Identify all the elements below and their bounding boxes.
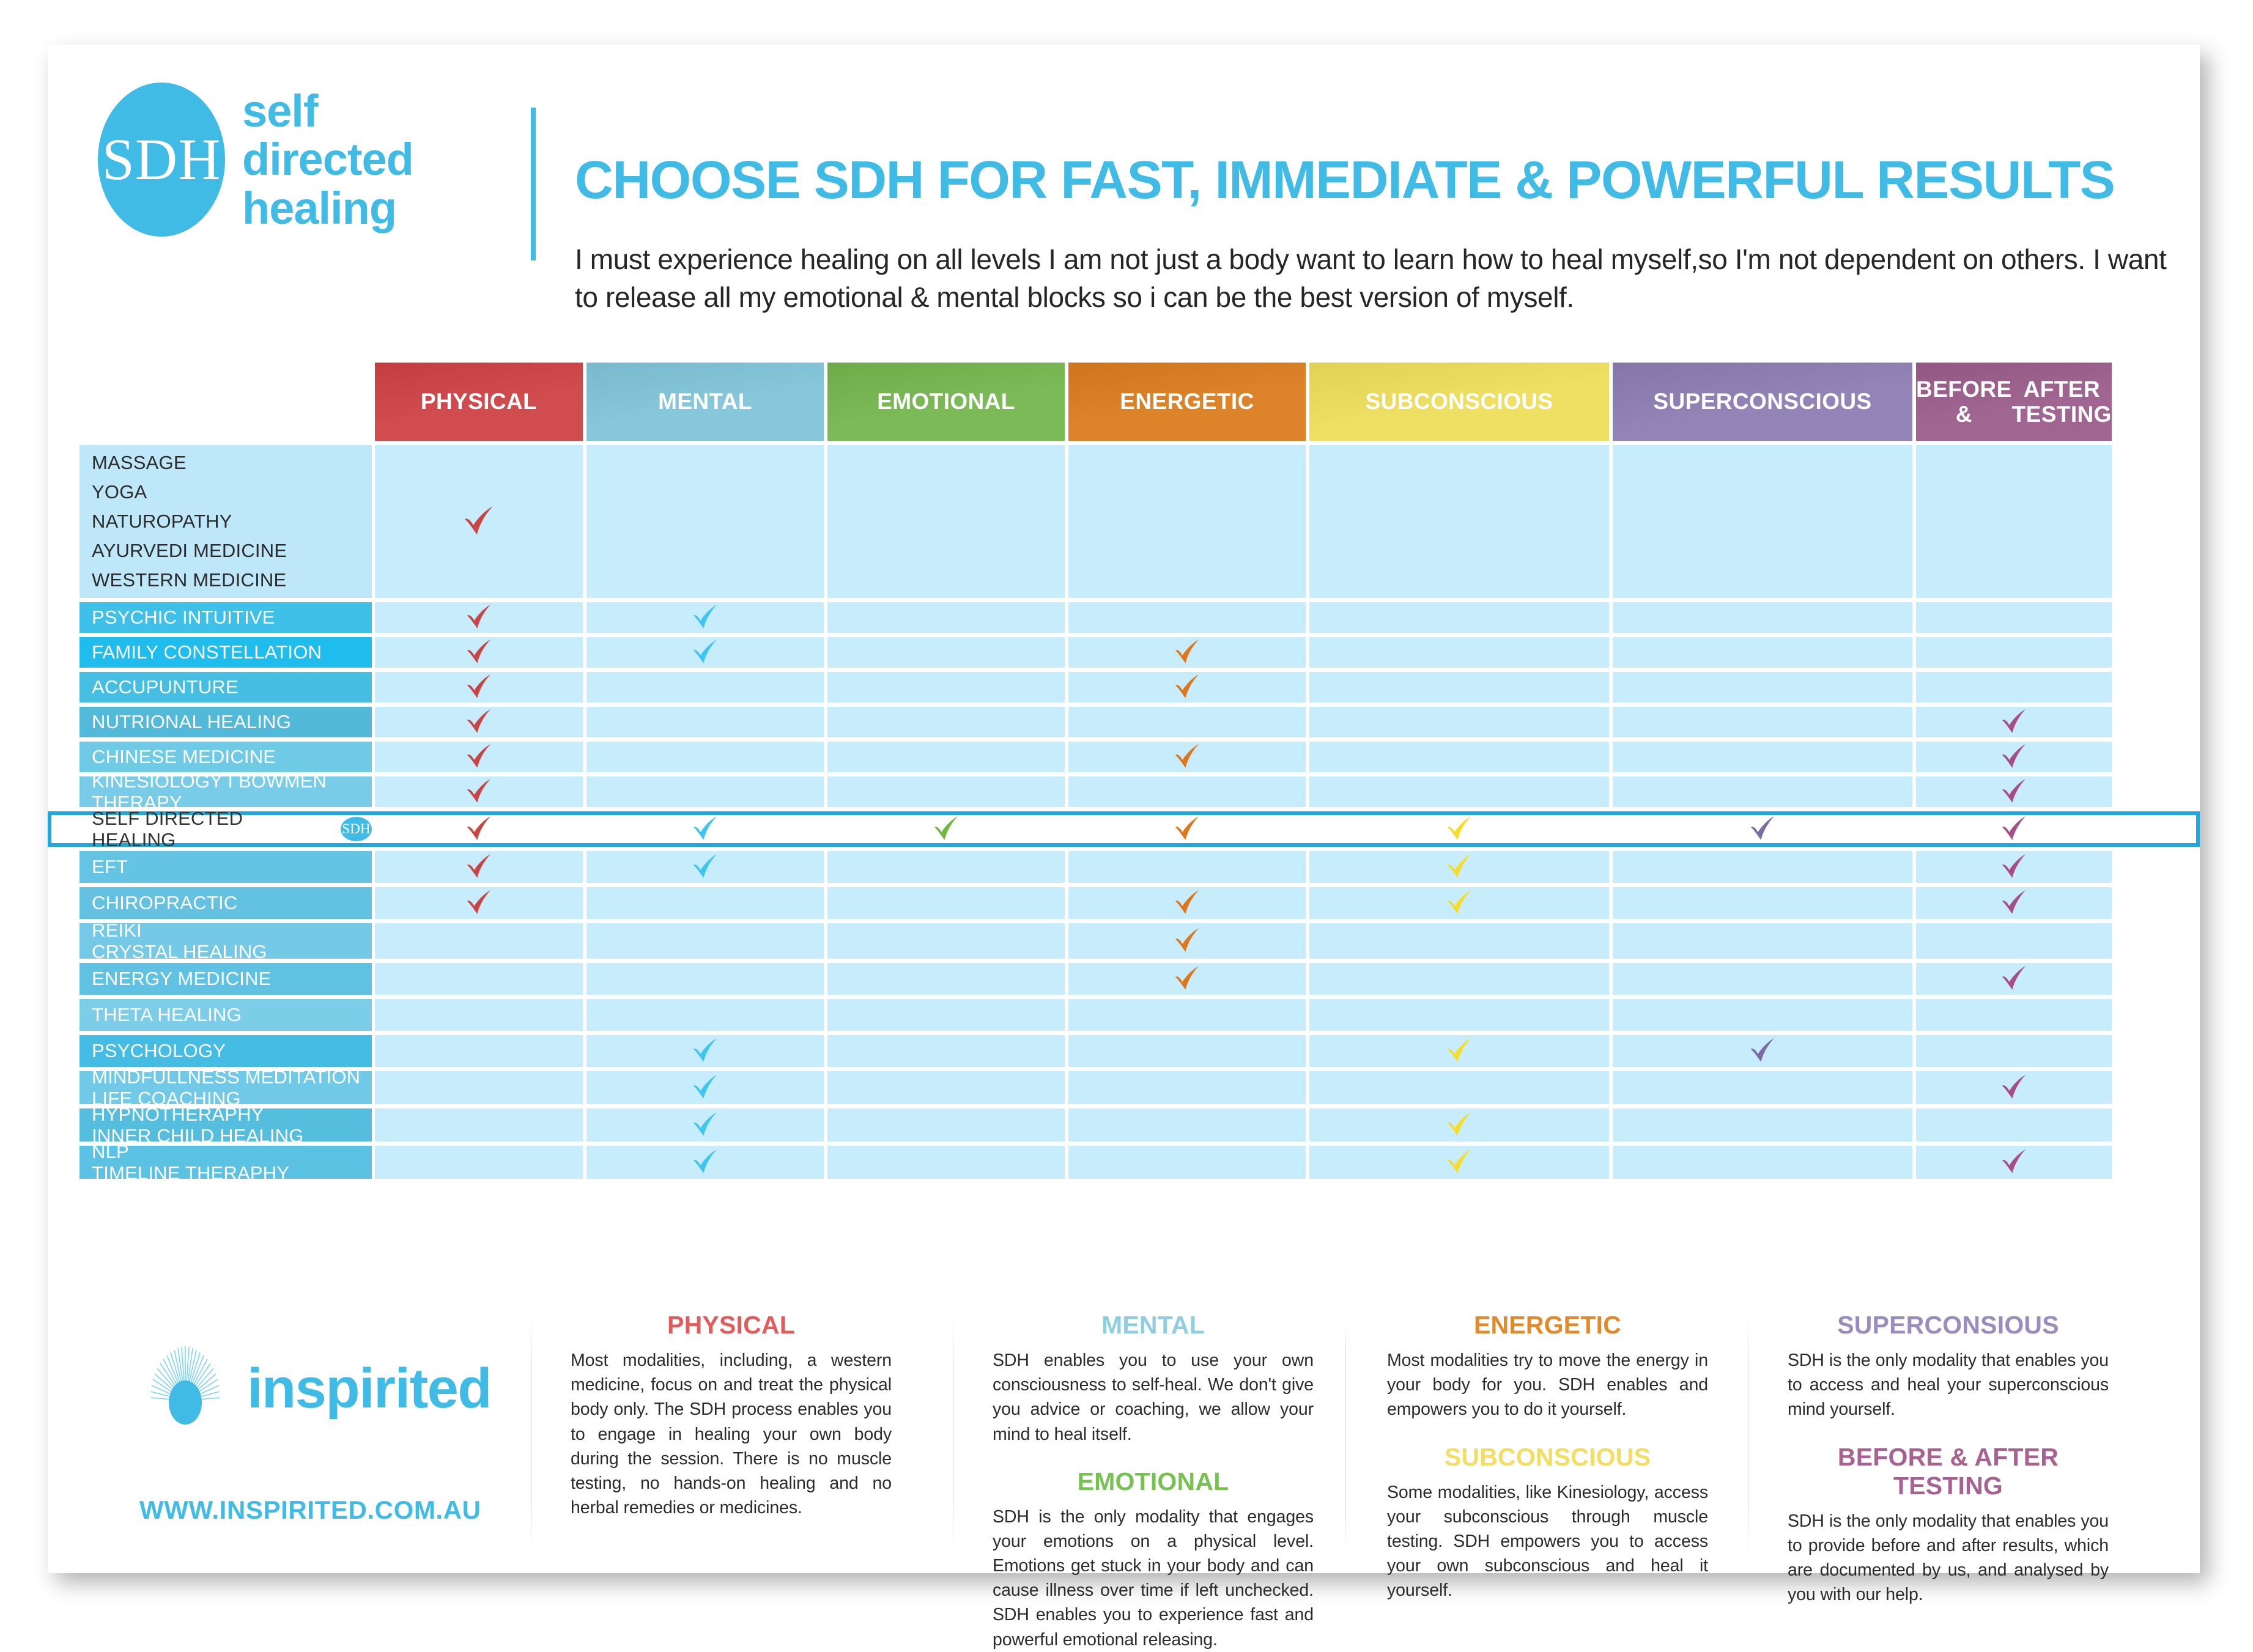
row-cells — [375, 776, 2112, 807]
footer-heading-before-after-testing: BEFORE & AFTER TESTING — [1788, 1443, 2109, 1500]
sdh-logo-oval-icon: SDH — [98, 83, 225, 237]
checkmark-icon — [686, 810, 724, 848]
checkmark-icon — [456, 499, 501, 544]
cell-accupunture-mental[interactable] — [586, 672, 824, 702]
footer-body-before-after-testing: SDH is the only modality that enables yo… — [1788, 1509, 2109, 1607]
cell-chinese-medicine-subconscious[interactable] — [1309, 742, 1609, 772]
column-header-label: PHYSICAL — [421, 389, 537, 414]
column-header-energetic: ENERGETIC — [1068, 363, 1306, 441]
cell-chinese-medicine-physical[interactable] — [375, 742, 583, 772]
footer-body-superconsious: SDH is the only modality that enables yo… — [1788, 1348, 2109, 1422]
row-label-theta-healing: THETA HEALING — [80, 999, 372, 1031]
row-label-reiki: REIKICRYSTAL HEALING — [80, 923, 372, 959]
checkmark-icon — [460, 773, 498, 811]
cell-chiropractic-subconscious[interactable] — [1309, 887, 1609, 919]
row-label-text: TIMELINE THERAPHY — [92, 1162, 372, 1184]
cell-reiki-emotional[interactable] — [827, 923, 1065, 959]
footer-column: MENTALSDH enables you to use your own co… — [993, 1311, 1314, 1652]
table-row[interactable]: EFT — [48, 851, 2200, 883]
cell-psychology-mental[interactable] — [586, 1035, 824, 1067]
cell-self-directed-healing-before-after-testing[interactable] — [1916, 815, 2112, 843]
row-label-eft: EFT — [80, 851, 372, 883]
cell-hypnotheraphy-mental[interactable] — [586, 1108, 824, 1141]
cell-energy-medicine-physical[interactable] — [375, 963, 583, 995]
cell-nlp-emotional[interactable] — [827, 1146, 1065, 1179]
column-header-mental: MENTAL — [586, 363, 824, 441]
sdh-logo: SDH self directed healing — [98, 83, 413, 237]
cell-psychology-energetic[interactable] — [1068, 1035, 1306, 1067]
cell-family-constellation-before-after-testing[interactable] — [1916, 637, 2112, 668]
row-cells — [375, 923, 2112, 959]
row-label-accupunture: ACCUPUNTURE — [80, 672, 372, 702]
row-label-text: SELF DIRECTED HEALING — [92, 808, 327, 851]
checkmark-icon — [927, 810, 965, 848]
cell-psychology-before-after-testing[interactable] — [1916, 1035, 2112, 1067]
checkmark-icon — [1440, 848, 1478, 886]
checkmark-icon — [1995, 1143, 2033, 1181]
cell-mindfullness-meditation-physical[interactable] — [375, 1071, 583, 1104]
row-cells — [375, 602, 2112, 633]
checkmark-icon — [1168, 810, 1206, 848]
checkmark-icon — [1744, 810, 1781, 848]
checkmark-icon — [1440, 1106, 1478, 1144]
checkmark-icon — [1995, 703, 2033, 741]
cell-nutrional-healing-physical[interactable] — [375, 707, 583, 737]
checkmark-icon — [460, 599, 498, 636]
row-cells — [375, 887, 2112, 919]
footer-heading-energetic: ENERGETIC — [1387, 1311, 1708, 1340]
row-label-chiropractic: CHIROPRACTIC — [80, 887, 372, 919]
cell-hypnotheraphy-energetic[interactable] — [1068, 1108, 1306, 1141]
checkmark-icon — [686, 633, 724, 671]
row-label-text: WESTERN MEDICINE — [92, 566, 372, 595]
cell-energy-medicine-before-after-testing[interactable] — [1916, 963, 2112, 995]
table-row[interactable]: MASSAGEYOGANATUROPATHYAYURVEDI MEDICINEW… — [48, 445, 2200, 598]
cell-mindfullness-meditation-mental[interactable] — [586, 1071, 824, 1104]
column-header-label: ENERGETIC — [1120, 389, 1254, 414]
cell-chinese-medicine-superconscious[interactable] — [1613, 742, 1912, 772]
checkmark-icon — [460, 884, 498, 922]
cell-chiropractic-physical[interactable] — [375, 887, 583, 919]
footer-column: ENERGETICMost modalities try to move the… — [1387, 1311, 1708, 1602]
column-header-label: SUPERCONSCIOUS — [1653, 389, 1871, 414]
footer-body-energetic: Most modalities try to move the energy i… — [1387, 1348, 1708, 1422]
row-label-family-constellation: FAMILY CONSTELLATION — [80, 637, 372, 668]
checkmark-icon — [1995, 738, 2033, 776]
row-label-massage: MASSAGEYOGANATUROPATHYAYURVEDI MEDICINEW… — [80, 445, 372, 598]
cell-self-directed-healing-subconscious[interactable] — [1309, 815, 1609, 843]
row-cells — [375, 1146, 2112, 1179]
page-subtitle: I must experience healing on all levels … — [575, 240, 2189, 316]
table-row[interactable]: REIKICRYSTAL HEALING — [48, 923, 2200, 959]
poster-header: SDH self directed healing CHOOSE SDH FOR… — [48, 45, 2200, 289]
checkmark-icon — [1440, 1143, 1478, 1181]
cell-family-constellation-physical[interactable] — [375, 637, 583, 668]
sdh-logo-wordmark: self directed healing — [242, 87, 413, 232]
cell-family-constellation-energetic[interactable] — [1068, 637, 1306, 668]
cell-chiropractic-superconscious[interactable] — [1613, 887, 1912, 919]
footer-body-physical: Most modalities, including, a western me… — [571, 1348, 892, 1520]
column-header-before-after-testing: BEFORE &AFTER TESTING — [1916, 363, 2112, 441]
checkmark-icon — [1168, 922, 1206, 960]
cell-chinese-medicine-energetic[interactable] — [1068, 742, 1306, 772]
cell-accupunture-before-after-testing[interactable] — [1916, 672, 2112, 702]
table-row[interactable]: NLPTIMELINE THERAPHY — [48, 1146, 2200, 1179]
cell-nlp-subconscious[interactable] — [1309, 1146, 1609, 1179]
sdh-logo-line-3: healing — [242, 184, 413, 232]
checkmark-icon — [460, 738, 498, 776]
footer-body-mental: SDH enables you to use your own consciou… — [993, 1348, 1314, 1447]
cell-massage-emotional[interactable] — [827, 445, 1065, 598]
cell-nutrional-healing-emotional[interactable] — [827, 707, 1065, 737]
row-cells — [375, 1108, 2112, 1141]
inspirited-logo: inspirited — [139, 1343, 491, 1434]
row-label-text: CHIROPRACTIC — [92, 892, 372, 913]
column-header-label: AFTER TESTING — [2012, 377, 2112, 427]
inspirited-wordmark: inspirited — [247, 1360, 491, 1417]
checkmark-icon — [1995, 773, 2033, 811]
cell-chinese-medicine-mental[interactable] — [586, 742, 824, 772]
table-body: MASSAGEYOGANATUROPATHYAYURVEDI MEDICINEW… — [48, 445, 2200, 1183]
poster-footer: inspirited WWW.INSPIRITED.COM.AU PHYSICA… — [48, 1294, 2200, 1573]
checkmark-icon — [686, 1106, 724, 1144]
cell-psychology-physical[interactable] — [375, 1035, 583, 1067]
page-title: CHOOSE SDH FOR FAST, IMMEDIATE & POWERFU… — [575, 153, 2177, 207]
row-label-text: MINDFULLNESS MEDITATION — [92, 1066, 372, 1088]
cell-hypnotheraphy-superconscious[interactable] — [1613, 1108, 1912, 1141]
cell-reiki-subconscious[interactable] — [1309, 923, 1609, 959]
cell-energy-medicine-superconscious[interactable] — [1613, 963, 1912, 995]
cell-eft-physical[interactable] — [375, 851, 583, 883]
row-label-self-directed-healing: SELF DIRECTED HEALINGSDH — [80, 815, 372, 843]
row-label-text: CHINESE MEDICINE — [92, 746, 372, 767]
footer-divider — [953, 1318, 953, 1551]
row-label-text: PSYCHOLOGY — [92, 1040, 372, 1061]
cell-massage-mental[interactable] — [586, 445, 824, 598]
column-header-label: SUBCONSCIOUS — [1366, 389, 1553, 414]
cell-nutrional-healing-mental[interactable] — [586, 707, 824, 737]
row-cells — [375, 672, 2112, 702]
website-url[interactable]: WWW.INSPIRITED.COM.AU — [139, 1495, 481, 1525]
cell-chinese-medicine-emotional[interactable] — [827, 742, 1065, 772]
checkmark-icon — [686, 1032, 724, 1070]
row-label-nlp: NLPTIMELINE THERAPHY — [80, 1146, 372, 1179]
cell-kinesiology-i-bowmen-therapy-subconscious[interactable] — [1309, 776, 1609, 807]
cell-mindfullness-meditation-energetic[interactable] — [1068, 1071, 1306, 1104]
footer-column: PHYSICALMost modalities, including, a we… — [571, 1311, 892, 1520]
footer-spacer — [1788, 1422, 2109, 1443]
cell-kinesiology-i-bowmen-therapy-emotional[interactable] — [827, 776, 1065, 807]
footer-divider — [1748, 1318, 1748, 1551]
cell-psychic-intuitive-before-after-testing[interactable] — [1916, 602, 2112, 633]
sdh-badge-icon: SDH — [341, 817, 372, 841]
checkmark-icon — [1995, 884, 2033, 922]
cell-theta-healing-superconscious[interactable] — [1613, 999, 1912, 1031]
row-label-text: NUTRIONAL HEALING — [92, 711, 372, 732]
cell-hypnotheraphy-physical[interactable] — [375, 1108, 583, 1141]
cell-kinesiology-i-bowmen-therapy-superconscious[interactable] — [1613, 776, 1912, 807]
cell-theta-healing-subconscious[interactable] — [1309, 999, 1609, 1031]
checkmark-icon — [460, 810, 498, 848]
cell-nlp-energetic[interactable] — [1068, 1146, 1306, 1179]
cell-mindfullness-meditation-before-after-testing[interactable] — [1916, 1071, 2112, 1104]
row-cells — [375, 1071, 2112, 1104]
cell-energy-medicine-emotional[interactable] — [827, 963, 1065, 995]
cell-chiropractic-mental[interactable] — [586, 887, 824, 919]
cell-self-directed-healing-emotional[interactable] — [827, 815, 1065, 843]
cell-nutrional-healing-before-after-testing[interactable] — [1916, 707, 2112, 737]
cell-reiki-before-after-testing[interactable] — [1916, 923, 2112, 959]
cell-reiki-energetic[interactable] — [1068, 923, 1306, 959]
footer-heading-physical: PHYSICAL — [571, 1311, 892, 1340]
row-label-psychic-intuitive: PSYCHIC INTUITIVE — [80, 602, 372, 633]
cell-accupunture-energetic[interactable] — [1068, 672, 1306, 702]
checkmark-icon — [460, 848, 498, 886]
column-header-subconscious: SUBCONSCIOUS — [1309, 363, 1609, 441]
table-row[interactable]: PSYCHIC INTUITIVE — [48, 602, 2200, 633]
table-row[interactable]: KINESIOLOGY I BOWMEN THERAPY — [48, 776, 2200, 807]
footer-heading-mental: MENTAL — [993, 1311, 1314, 1340]
table-row[interactable]: MINDFULLNESS MEDITATIONLIFE COACHING — [48, 1071, 2200, 1104]
cell-hypnotheraphy-subconscious[interactable] — [1309, 1108, 1609, 1141]
row-cells — [375, 637, 2112, 668]
table-row[interactable]: FAMILY CONSTELLATION — [48, 637, 2200, 668]
row-label-text: CRYSTAL HEALING — [92, 941, 372, 962]
cell-kinesiology-i-bowmen-therapy-before-after-testing[interactable] — [1916, 776, 2112, 807]
header-vertical-divider — [531, 108, 536, 260]
checkmark-icon — [686, 1069, 724, 1107]
row-label-text: AYURVEDI MEDICINE — [92, 536, 372, 566]
checkmark-icon — [1168, 884, 1206, 922]
table-row[interactable]: SELF DIRECTED HEALINGSDH — [48, 811, 2200, 847]
cell-nutrional-healing-superconscious[interactable] — [1613, 707, 1912, 737]
row-label-energy-medicine: ENERGY MEDICINE — [80, 963, 372, 995]
sunburst-icon — [139, 1343, 231, 1434]
cell-massage-subconscious[interactable] — [1309, 445, 1609, 598]
cell-eft-before-after-testing[interactable] — [1916, 851, 2112, 883]
cell-theta-healing-physical[interactable] — [375, 999, 583, 1031]
cell-accupunture-superconscious[interactable] — [1613, 672, 1912, 702]
cell-self-directed-healing-physical[interactable] — [375, 815, 583, 843]
cell-psychology-superconscious[interactable] — [1613, 1035, 1912, 1067]
row-cells — [375, 742, 2112, 772]
cell-psychology-subconscious[interactable] — [1309, 1035, 1609, 1067]
cell-nlp-physical[interactable] — [375, 1146, 583, 1179]
cell-mindfullness-meditation-emotional[interactable] — [827, 1071, 1065, 1104]
row-label-nutrional-healing: NUTRIONAL HEALING — [80, 707, 372, 737]
sdh-logo-initials: SDH — [102, 130, 221, 189]
cell-psychic-intuitive-subconscious[interactable] — [1309, 602, 1609, 633]
column-header-physical: PHYSICAL — [375, 363, 583, 441]
column-header-label: EMOTIONAL — [877, 389, 1015, 414]
row-label-hypnotheraphy: HYPNOTHERAPHYINNER CHILD HEALING — [80, 1108, 372, 1141]
table-row[interactable]: NUTRIONAL HEALING — [48, 707, 2200, 737]
cell-kinesiology-i-bowmen-therapy-mental[interactable] — [586, 776, 824, 807]
row-cells — [375, 707, 2112, 737]
cell-reiki-superconscious[interactable] — [1613, 923, 1912, 959]
row-label-text: YOGA — [92, 478, 372, 507]
checkmark-icon — [1440, 810, 1478, 848]
checkmark-icon — [1168, 633, 1206, 671]
checkmark-icon — [686, 1143, 724, 1181]
poster-card: SDH self directed healing CHOOSE SDH FOR… — [48, 45, 2200, 1573]
cell-theta-healing-emotional[interactable] — [827, 999, 1065, 1031]
cell-chiropractic-energetic[interactable] — [1068, 887, 1306, 919]
cell-massage-superconscious[interactable] — [1613, 445, 1912, 598]
row-label-text: PSYCHIC INTUITIVE — [92, 607, 372, 628]
cell-family-constellation-emotional[interactable] — [827, 637, 1065, 668]
checkmark-icon — [1995, 810, 2033, 848]
sdh-logo-line-2: directed — [242, 135, 413, 183]
column-header-label: BEFORE & — [1916, 377, 2012, 427]
cell-eft-superconscious[interactable] — [1613, 851, 1912, 883]
table-row[interactable]: THETA HEALING — [48, 999, 2200, 1031]
cell-psychic-intuitive-mental[interactable] — [586, 602, 824, 633]
cell-nlp-mental[interactable] — [586, 1146, 824, 1179]
cell-nlp-before-after-testing[interactable] — [1916, 1146, 2112, 1179]
cell-eft-emotional[interactable] — [827, 851, 1065, 883]
row-label-text: FAMILY CONSTELLATION — [92, 641, 372, 663]
cell-reiki-mental[interactable] — [586, 923, 824, 959]
cell-psychic-intuitive-emotional[interactable] — [827, 602, 1065, 633]
row-cells — [375, 999, 2112, 1031]
row-cells — [375, 815, 2112, 843]
cell-kinesiology-i-bowmen-therapy-energetic[interactable] — [1068, 776, 1306, 807]
row-label-chinese-medicine: CHINESE MEDICINE — [80, 742, 372, 772]
column-header-emotional: EMOTIONAL — [827, 363, 1065, 441]
table-row[interactable]: ENERGY MEDICINE — [48, 963, 2200, 995]
row-label-text: ACCUPUNTURE — [92, 676, 372, 698]
cell-chiropractic-before-after-testing[interactable] — [1916, 887, 2112, 919]
footer-divider — [1345, 1318, 1346, 1551]
cell-chiropractic-emotional[interactable] — [827, 887, 1065, 919]
cell-mindfullness-meditation-superconscious[interactable] — [1613, 1071, 1912, 1104]
row-label-text: NATUROPATHY — [92, 507, 372, 536]
footer-body-emotional: SDH is the only modality that engages yo… — [993, 1505, 1314, 1652]
cell-family-constellation-subconscious[interactable] — [1309, 637, 1609, 668]
cell-nutrional-healing-subconscious[interactable] — [1309, 707, 1609, 737]
cell-reiki-physical[interactable] — [375, 923, 583, 959]
cell-psychic-intuitive-energetic[interactable] — [1068, 602, 1306, 633]
row-label-text: THETA HEALING — [92, 1004, 372, 1025]
cell-psychic-intuitive-superconscious[interactable] — [1613, 602, 1912, 633]
checkmark-icon — [460, 703, 498, 741]
checkmark-icon — [1168, 738, 1206, 776]
table-row[interactable]: CHIROPRACTIC — [48, 887, 2200, 919]
cell-self-directed-healing-energetic[interactable] — [1068, 815, 1306, 843]
table-column-headers: PHYSICALMENTALEMOTIONALENERGETICSUBCONSC… — [48, 363, 2200, 441]
cell-kinesiology-i-bowmen-therapy-physical[interactable] — [375, 776, 583, 807]
checkmark-icon — [460, 633, 498, 671]
footer-column: SUPERCONSIOUSSDH is the only modality th… — [1788, 1311, 2109, 1607]
cell-family-constellation-superconscious[interactable] — [1613, 637, 1912, 668]
cell-energy-medicine-energetic[interactable] — [1068, 963, 1306, 995]
cell-hypnotheraphy-before-after-testing[interactable] — [1916, 1108, 2112, 1141]
checkmark-icon — [1995, 1069, 2033, 1107]
cell-accupunture-physical[interactable] — [375, 672, 583, 702]
checkmark-icon — [1440, 1032, 1478, 1070]
cell-chinese-medicine-before-after-testing[interactable] — [1916, 742, 2112, 772]
checkmark-icon — [686, 848, 724, 886]
row-cells — [375, 851, 2112, 883]
row-label-text: EFT — [92, 856, 372, 877]
cell-family-constellation-mental[interactable] — [586, 637, 824, 668]
row-label-text: MASSAGE — [92, 448, 372, 478]
footer-body-subconscious: Some modalities, like Kinesiology, acces… — [1387, 1480, 1708, 1603]
cell-psychic-intuitive-physical[interactable] — [375, 602, 583, 633]
cell-energy-medicine-subconscious[interactable] — [1309, 963, 1609, 995]
cell-hypnotheraphy-emotional[interactable] — [827, 1108, 1065, 1141]
checkmark-icon — [1744, 1032, 1781, 1070]
checkmark-icon — [686, 599, 724, 636]
row-label-psychology: PSYCHOLOGY — [80, 1035, 372, 1067]
checkmark-icon — [1995, 960, 2033, 998]
row-label-text: NLP — [92, 1141, 372, 1162]
cell-nlp-superconscious[interactable] — [1613, 1146, 1912, 1179]
table-row[interactable]: PSYCHOLOGY — [48, 1035, 2200, 1067]
cell-eft-subconscious[interactable] — [1309, 851, 1609, 883]
cell-massage-physical[interactable] — [375, 445, 583, 598]
table-row[interactable]: CHINESE MEDICINE — [48, 742, 2200, 772]
cell-accupunture-emotional[interactable] — [827, 672, 1065, 702]
row-label-text: HYPNOTHERAPHY — [92, 1104, 372, 1125]
cell-theta-healing-mental[interactable] — [586, 999, 824, 1031]
table-row[interactable]: HYPNOTHERAPHYINNER CHILD HEALING — [48, 1108, 2200, 1141]
cell-massage-energetic[interactable] — [1068, 445, 1306, 598]
cell-massage-before-after-testing[interactable] — [1916, 445, 2112, 598]
footer-heading-superconsious: SUPERCONSIOUS — [1788, 1311, 2109, 1340]
cell-self-directed-healing-superconscious[interactable] — [1613, 815, 1912, 843]
checkmark-icon — [1168, 960, 1206, 998]
cell-eft-mental[interactable] — [586, 851, 824, 883]
cell-accupunture-subconscious[interactable] — [1309, 672, 1609, 702]
row-cells — [375, 963, 2112, 995]
row-label-text: REIKI — [92, 920, 372, 941]
checkmark-icon — [1995, 848, 2033, 886]
footer-divider — [531, 1318, 531, 1551]
table-row[interactable]: ACCUPUNTURE — [48, 672, 2200, 702]
row-label-kinesiology-i-bowmen-therapy: KINESIOLOGY I BOWMEN THERAPY — [80, 776, 372, 807]
footer-spacer — [1387, 1422, 1708, 1443]
cell-eft-energetic[interactable] — [1068, 851, 1306, 883]
sdh-logo-line-1: self — [242, 87, 413, 135]
checkmark-icon — [460, 668, 498, 706]
cell-theta-healing-before-after-testing[interactable] — [1916, 999, 2112, 1031]
checkmark-icon — [1168, 668, 1206, 706]
checkmark-icon — [1440, 884, 1478, 922]
row-label-mindfullness-meditation: MINDFULLNESS MEDITATIONLIFE COACHING — [80, 1071, 372, 1104]
cell-psychology-emotional[interactable] — [827, 1035, 1065, 1067]
footer-spacer — [993, 1447, 1314, 1467]
cell-energy-medicine-mental[interactable] — [586, 963, 824, 995]
row-cells — [375, 445, 2112, 598]
row-cells — [375, 1035, 2112, 1067]
cell-theta-healing-energetic[interactable] — [1068, 999, 1306, 1031]
cell-mindfullness-meditation-subconscious[interactable] — [1309, 1071, 1609, 1104]
cell-self-directed-healing-mental[interactable] — [586, 815, 824, 843]
column-header-superconscious: SUPERCONSCIOUS — [1613, 363, 1912, 441]
footer-heading-subconscious: SUBCONSCIOUS — [1387, 1443, 1708, 1472]
column-header-label: MENTAL — [658, 389, 752, 414]
row-label-text: ENERGY MEDICINE — [92, 968, 372, 989]
footer-heading-emotional: EMOTIONAL — [993, 1467, 1314, 1496]
cell-nutrional-healing-energetic[interactable] — [1068, 707, 1306, 737]
